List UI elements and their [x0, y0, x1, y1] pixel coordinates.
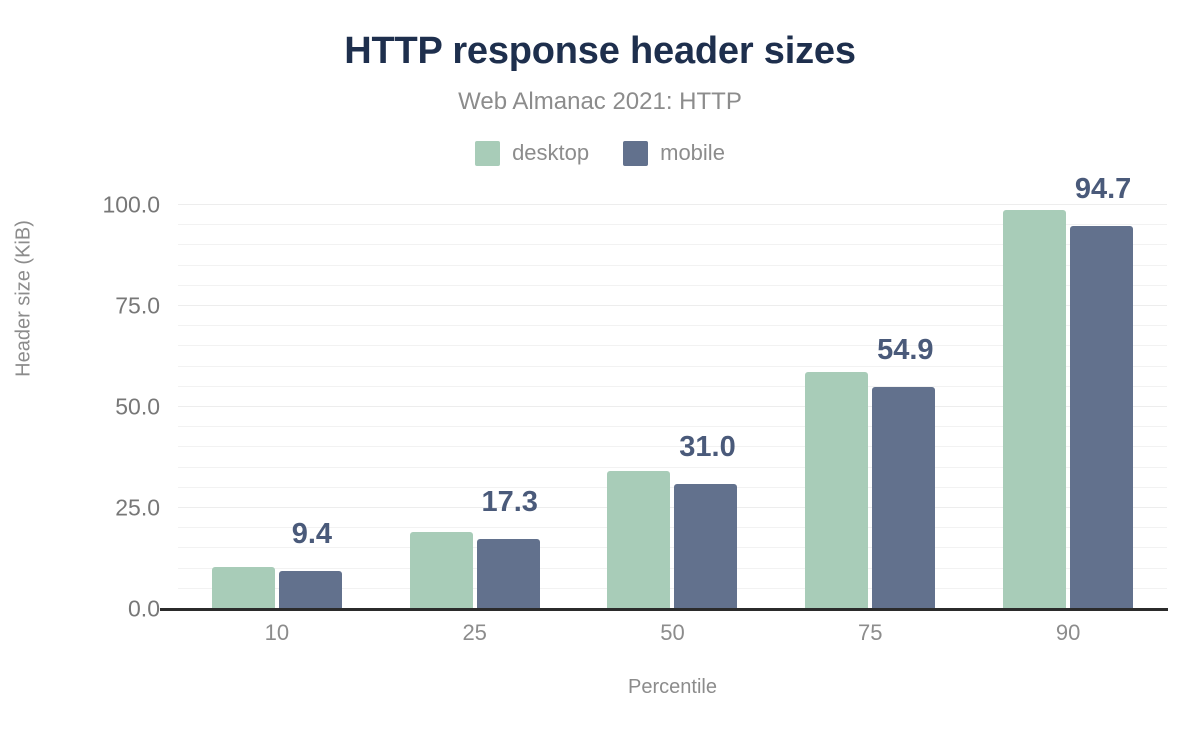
bar-mobile-10[interactable] — [279, 571, 342, 609]
bar-group-90 — [969, 205, 1167, 609]
bar-mobile-75[interactable] — [872, 387, 935, 609]
x-tick-label-75: 75 — [858, 620, 882, 646]
bar-value-label-25: 17.3 — [481, 486, 537, 519]
bar-mobile-25[interactable] — [477, 539, 540, 609]
bar-desktop-90[interactable] — [1003, 210, 1066, 609]
x-axis-title: Percentile — [178, 676, 1167, 699]
bars-row — [969, 205, 1167, 609]
bar-value-label-75: 54.9 — [877, 334, 933, 367]
x-tick-label-25: 25 — [462, 620, 486, 646]
bar-desktop-50[interactable] — [607, 471, 670, 609]
y-tick-label: 100.0 — [18, 192, 178, 219]
bar-group-25 — [376, 205, 574, 609]
x-axis-baseline — [160, 608, 1168, 611]
x-tick-label-10: 10 — [265, 620, 289, 646]
bar-desktop-25[interactable] — [410, 532, 473, 609]
legend-label-desktop: desktop — [512, 140, 589, 166]
bar-group-50 — [574, 205, 772, 609]
legend-item-mobile[interactable]: mobile — [623, 140, 725, 166]
bar-value-label-50: 31.0 — [679, 431, 735, 464]
y-tick-label: 0.0 — [18, 596, 178, 623]
x-tick-label-90: 90 — [1056, 620, 1080, 646]
x-tick-label-50: 50 — [660, 620, 684, 646]
bar-mobile-90[interactable] — [1070, 226, 1133, 609]
legend-swatch-mobile — [623, 141, 648, 166]
bar-value-label-10: 9.4 — [292, 518, 332, 551]
y-tick-label: 25.0 — [18, 495, 178, 522]
bar-group-10 — [178, 205, 376, 609]
bar-mobile-50[interactable] — [674, 484, 737, 609]
bars-row — [771, 205, 969, 609]
legend-label-mobile: mobile — [660, 140, 725, 166]
bars-row — [376, 205, 574, 609]
chart-legend: desktopmobile — [0, 140, 1200, 166]
bar-value-label-90: 94.7 — [1075, 173, 1131, 206]
chart-container: HTTP response header sizes Web Almanac 2… — [0, 0, 1200, 742]
chart-subtitle: Web Almanac 2021: HTTP — [0, 88, 1200, 116]
y-tick-label: 75.0 — [18, 293, 178, 320]
legend-item-desktop[interactable]: desktop — [475, 140, 589, 166]
y-axis-title: Header size (KiB) — [13, 179, 36, 419]
y-tick-label: 50.0 — [18, 394, 178, 421]
bar-desktop-10[interactable] — [212, 567, 275, 609]
bar-group-75 — [771, 205, 969, 609]
chart-title: HTTP response header sizes — [0, 30, 1200, 73]
bar-desktop-75[interactable] — [805, 372, 868, 609]
legend-swatch-desktop — [475, 141, 500, 166]
bars-row — [574, 205, 772, 609]
bars-row — [178, 205, 376, 609]
